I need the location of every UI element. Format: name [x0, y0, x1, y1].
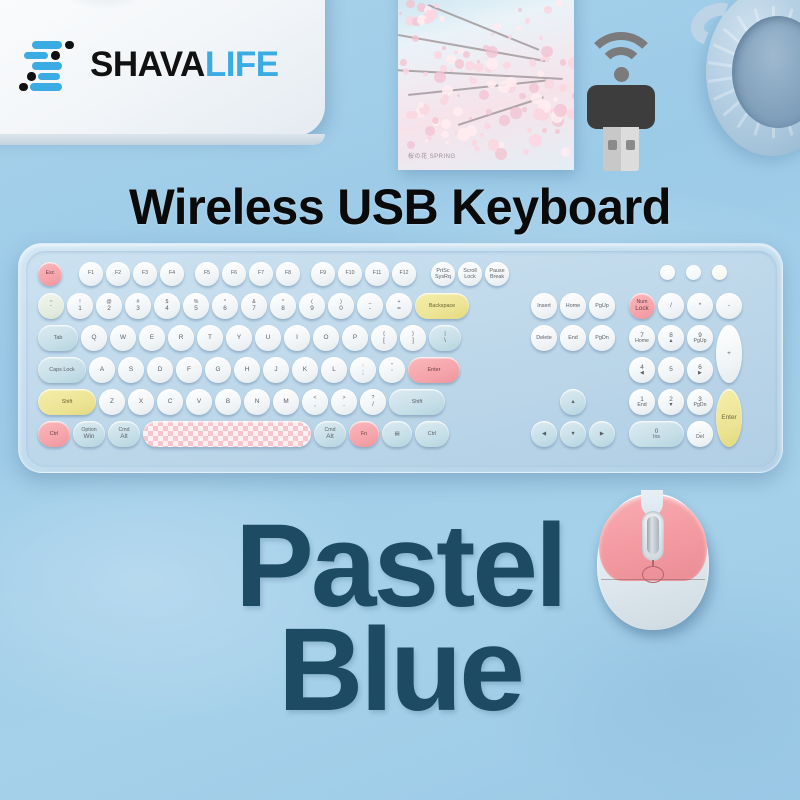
- poster-blossom: [544, 6, 551, 13]
- key-2[interactable]: @2: [96, 293, 122, 319]
- laptop-reflection: [60, 0, 150, 10]
- poster-blossom: [474, 146, 479, 151]
- arrow-up-key[interactable]: ▲: [560, 389, 586, 415]
- key-label: Home: [566, 303, 580, 309]
- poster-blossom: [465, 61, 475, 71]
- key-legend-top: F3: [142, 271, 148, 277]
- dongle-pin-left: [608, 140, 617, 150]
- key-legend-main: Z: [110, 398, 114, 405]
- numpad-3[interactable]: 3PgDn: [687, 389, 713, 415]
- poster-blossom: [544, 79, 554, 89]
- key-scroll-lock[interactable]: ScrollLock: [458, 262, 482, 286]
- key-legend-main: 6: [223, 305, 227, 312]
- poster-blossom: [434, 71, 446, 83]
- poster-blossom: [553, 97, 558, 102]
- key-caps-lock[interactable]: Caps Lock: [38, 357, 86, 383]
- numpad-[interactable]: .Del: [687, 421, 713, 447]
- key-legend-main: Alt: [326, 433, 333, 440]
- key-legend-main: U: [266, 334, 271, 341]
- key-legend-main: C: [168, 398, 173, 405]
- key-legend-main: Win: [83, 433, 94, 440]
- key-label: Shift: [412, 399, 423, 405]
- key-legend-top: F7: [258, 271, 264, 277]
- key-legend-top: F5: [204, 271, 210, 277]
- key-legend-main: ': [391, 369, 392, 376]
- key-enter[interactable]: Enter: [408, 357, 460, 383]
- key-j[interactable]: J: [263, 357, 289, 383]
- key-legend-main: P: [353, 334, 357, 341]
- poster-blossom: [519, 93, 526, 100]
- poster-blossom: [483, 45, 489, 51]
- key-legend-top: F12: [400, 271, 409, 277]
- key-legend-main: 5: [194, 305, 198, 312]
- poster-blossom: [442, 46, 446, 50]
- key-legend-main: /: [372, 401, 374, 408]
- key-e[interactable]: E: [139, 325, 165, 351]
- poster-blossom: [434, 51, 442, 59]
- keyboard-key-area: EscF1F2F3F4F5F6F7F8F9F10F11F12PrtScSysRq…: [26, 251, 777, 467]
- poster-caption: 桜の花 SPRING: [408, 153, 456, 162]
- key-label: PgDn: [595, 335, 609, 341]
- numpad-enter[interactable]: Enter: [716, 389, 742, 447]
- color-callout: Pastel Blue: [0, 515, 800, 723]
- pastel-blue-wireless-keyboard[interactable]: EscF1F2F3F4F5F6F7F8F9F10F11F12PrtScSysRq…: [18, 243, 783, 473]
- key-p[interactable]: P: [342, 325, 368, 351]
- key-label: Caps Lock: [49, 367, 74, 373]
- key-legend-main: Y: [237, 334, 241, 341]
- key-label: PgUp: [595, 303, 609, 309]
- key-legend-sub: Home: [635, 339, 649, 345]
- key-0[interactable]: )0: [328, 293, 354, 319]
- key-label: Enter: [428, 367, 441, 373]
- poster-blossom: [561, 147, 571, 157]
- arrow-left-key[interactable]: ◀: [531, 421, 557, 447]
- key-fn[interactable]: Fn: [349, 421, 379, 447]
- key-legend-top: Esc: [46, 271, 55, 277]
- key-label: Backspace: [429, 303, 455, 309]
- poster-blossom: [445, 141, 449, 145]
- key-legend-main: T: [208, 334, 212, 341]
- poster-blossom: [406, 111, 414, 119]
- poster-blossom: [555, 129, 560, 134]
- key-label: ▲: [570, 399, 575, 405]
- key-legend-main: J: [274, 366, 277, 373]
- poster-blossom: [446, 55, 456, 65]
- key-legend-main: =: [397, 305, 401, 312]
- key-legend-main: 9: [310, 305, 314, 312]
- poster-blossom: [458, 48, 464, 54]
- numpad-6[interactable]: 6▶: [687, 357, 713, 383]
- key-r[interactable]: R: [168, 325, 194, 351]
- key-f12[interactable]: F12: [392, 262, 416, 286]
- key-f4[interactable]: F4: [160, 262, 184, 286]
- poster-blossom: [529, 134, 542, 147]
- key-legend-main: Lock: [635, 305, 649, 312]
- key-legend-main: N: [255, 398, 260, 405]
- key-legend-main: X: [139, 398, 143, 405]
- key-s[interactable]: S: [118, 357, 144, 383]
- poster-blossom: [554, 104, 567, 117]
- poster-blossom: [491, 33, 494, 36]
- indicator-led-1: [660, 265, 675, 280]
- key-k[interactable]: K: [292, 357, 318, 383]
- key-f6[interactable]: F6: [222, 262, 246, 286]
- logo-bar-2: [24, 52, 48, 60]
- poster-blossom: [559, 84, 568, 93]
- poster-branch: [398, 34, 546, 62]
- key-legend-sub: ▶: [698, 371, 702, 377]
- key-legend-main: 7: [252, 305, 256, 312]
- key-[interactable]: ?/: [360, 389, 386, 415]
- numpad-[interactable]: -: [716, 293, 742, 319]
- key-[interactable]: <,: [302, 389, 328, 415]
- key-legend-main: [: [383, 337, 385, 344]
- key-esc[interactable]: Esc: [38, 262, 62, 286]
- key-end[interactable]: End: [560, 325, 586, 351]
- poster-blossom: [503, 62, 510, 69]
- key-legend-main: K: [303, 366, 307, 373]
- poster-blossom: [453, 107, 463, 117]
- poster-blossom: [486, 58, 499, 71]
- numpad-5[interactable]: 5: [658, 357, 684, 383]
- key-legend-main: G: [216, 366, 221, 373]
- key-legend-main: Enter: [721, 414, 736, 421]
- key-legend-main: Alt: [120, 433, 127, 440]
- key-f[interactable]: F: [176, 357, 202, 383]
- key-legend-sub: PgUp: [694, 339, 707, 345]
- poster-blossom: [499, 115, 510, 126]
- key-label: ◀: [542, 431, 546, 437]
- key-4[interactable]: $4: [154, 293, 180, 319]
- key-legend-main: 5: [669, 366, 673, 373]
- poster-blossom: [457, 94, 460, 97]
- key-legend-main: ]: [412, 337, 414, 344]
- poster-blossom: [423, 72, 427, 76]
- key-[interactable]: :;: [350, 357, 376, 383]
- key-legend-sub: ▼: [668, 403, 673, 409]
- poster-blossom: [441, 131, 448, 138]
- logo-bar-1: [32, 41, 62, 49]
- key-1[interactable]: !1: [67, 293, 93, 319]
- key-[interactable]: ~`: [38, 293, 64, 319]
- key-legend-main: Q: [92, 334, 97, 341]
- key-legend-main: O: [324, 334, 329, 341]
- key-9[interactable]: (9: [299, 293, 325, 319]
- key-legend-top: F11: [373, 271, 382, 277]
- key-label: ▤: [394, 431, 399, 437]
- key-[interactable]: _-: [357, 293, 383, 319]
- key-legend-main: 4: [165, 305, 169, 312]
- key-o[interactable]: O: [313, 325, 339, 351]
- key-legend-sub: ▲: [668, 339, 673, 345]
- key-f2[interactable]: F2: [106, 262, 130, 286]
- key-[interactable]: {[: [371, 325, 397, 351]
- logo-bar-5: [30, 83, 62, 91]
- key-legend-main: D: [158, 366, 163, 373]
- key-v[interactable]: V: [186, 389, 212, 415]
- key-legend-top: F8: [285, 271, 291, 277]
- key-h[interactable]: H: [234, 357, 260, 383]
- numpad-2[interactable]: 2▼: [658, 389, 684, 415]
- key-legend-main: R: [179, 334, 184, 341]
- indicator-led-2: [686, 265, 701, 280]
- key-legend-main: +: [727, 350, 731, 357]
- key-[interactable]: ▤: [382, 421, 412, 447]
- sakura-poster: 桜の花 SPRING: [398, 0, 574, 170]
- key-[interactable]: >.: [331, 389, 357, 415]
- key-legend-main: 8: [281, 305, 285, 312]
- key-f7[interactable]: F7: [249, 262, 273, 286]
- key-legend-main: `: [50, 305, 52, 312]
- poster-blossom: [537, 71, 543, 77]
- poster-blossom: [479, 90, 489, 100]
- brand-logo: SHAVALIFE: [18, 35, 279, 93]
- poster-blossom: [516, 26, 521, 31]
- key-5[interactable]: %5: [183, 293, 209, 319]
- numpad-7[interactable]: 7Home: [629, 325, 655, 351]
- poster-blossom: [527, 128, 532, 133]
- poster-blossom: [466, 125, 478, 137]
- key-u[interactable]: U: [255, 325, 281, 351]
- key-cmdalt[interactable]: CmdAlt: [314, 421, 346, 447]
- key-6[interactable]: ^6: [212, 293, 238, 319]
- key-label: Fn: [361, 431, 367, 437]
- logo-dot-2: [51, 51, 60, 60]
- key-legend-sub: End: [637, 403, 646, 409]
- key-label: Lock: [464, 274, 475, 280]
- logo-dot-1: [65, 41, 74, 50]
- key-delete[interactable]: Delete: [531, 325, 557, 351]
- key-legend-main: I: [296, 334, 298, 341]
- poster-blossom: [522, 107, 527, 112]
- key-legend-top: F9: [320, 271, 326, 277]
- poster-blossom: [493, 23, 501, 31]
- poster-blossom: [487, 80, 496, 89]
- poster-blossom: [426, 10, 431, 15]
- key-legend-sub: Ins: [653, 435, 660, 441]
- indicator-led-3: [712, 265, 727, 280]
- key-g[interactable]: G: [205, 357, 231, 383]
- poster-blossom: [480, 133, 485, 138]
- arrow-right-key[interactable]: ▶: [589, 421, 615, 447]
- key-legend-main: ;: [362, 369, 364, 376]
- key-legend-sub: Del: [696, 435, 704, 441]
- key-legend-sub: PgDn: [694, 403, 707, 409]
- key-n[interactable]: N: [244, 389, 270, 415]
- key-legend-top: F4: [169, 271, 175, 277]
- key-label: Tab: [54, 335, 63, 341]
- numpad-0[interactable]: 0Ins: [629, 421, 684, 447]
- color-callout-line2: Blue: [0, 619, 800, 723]
- poster-blossom: [455, 59, 464, 68]
- key-legend-main: -: [369, 305, 371, 312]
- key-label: End: [568, 335, 578, 341]
- key-insert[interactable]: Insert: [531, 293, 557, 319]
- key-w[interactable]: W: [110, 325, 136, 351]
- brand-name-secondary: LIFE: [205, 45, 279, 84]
- key-t[interactable]: T: [197, 325, 223, 351]
- key-shift[interactable]: Shift: [389, 389, 445, 415]
- brand-name-primary: SHAVA: [90, 45, 205, 84]
- logo-bar-4: [38, 73, 60, 81]
- ribbed-mug: [706, 0, 800, 156]
- key-z[interactable]: Z: [99, 389, 125, 415]
- key-3[interactable]: #3: [125, 293, 151, 319]
- poster-blossom: [440, 65, 447, 72]
- brand-logo-text: SHAVALIFE: [90, 47, 279, 82]
- key-d[interactable]: D: [147, 357, 173, 383]
- key-cmdalt[interactable]: CmdAlt: [108, 421, 140, 447]
- key-[interactable]: |\: [429, 325, 461, 351]
- poster-blossom: [525, 18, 530, 23]
- key-legend-main: S: [129, 366, 133, 373]
- poster-blossom: [540, 57, 544, 61]
- key-pgdn[interactable]: PgDn: [589, 325, 615, 351]
- key-legend-main: ,: [314, 401, 316, 408]
- poster-blossom: [454, 51, 457, 54]
- key-8[interactable]: *8: [270, 293, 296, 319]
- key-legend-main: A: [100, 366, 104, 373]
- key-label: Insert: [537, 303, 550, 309]
- key-l[interactable]: L: [321, 357, 347, 383]
- numpad-9[interactable]: 9PgUp: [687, 325, 713, 351]
- key-c[interactable]: C: [157, 389, 183, 415]
- key-pause-break[interactable]: PauseBreak: [485, 262, 509, 286]
- key-space[interactable]: [143, 421, 311, 447]
- key-legend-sub: ◀: [640, 371, 644, 377]
- poster-branch: [408, 79, 547, 95]
- numpad-8[interactable]: 8▲: [658, 325, 684, 351]
- key-legend-main: -: [728, 302, 730, 309]
- key-legend-main: 1: [78, 305, 82, 312]
- poster-blossom: [542, 128, 547, 133]
- key-[interactable]: }]: [400, 325, 426, 351]
- poster-blossom: [400, 59, 407, 66]
- key-i[interactable]: I: [284, 325, 310, 351]
- key-legend-main: B: [226, 398, 230, 405]
- poster-blossom: [530, 60, 536, 66]
- key-legend-main: /: [670, 302, 672, 309]
- key-[interactable]: +=: [386, 293, 412, 319]
- poster-blossom: [425, 139, 428, 142]
- poster-blossom: [518, 8, 522, 12]
- arrow-down-key[interactable]: ▼: [560, 421, 586, 447]
- key-legend-main: M: [283, 398, 288, 405]
- numpad-[interactable]: *: [687, 293, 713, 319]
- numpad-[interactable]: /: [658, 293, 684, 319]
- key-[interactable]: "': [379, 357, 405, 383]
- poster-blossom: [541, 46, 552, 57]
- speed-lines-icon: [18, 35, 76, 93]
- logo-dot-5: [19, 83, 28, 92]
- poster-blossom: [412, 35, 419, 42]
- numpad-num-lock[interactable]: NumLock: [629, 293, 655, 319]
- poster-blossom: [427, 136, 431, 140]
- key-legend-main: F: [187, 366, 191, 373]
- key-label: Shift: [62, 399, 73, 405]
- poster-blossom: [425, 126, 435, 136]
- key-shift[interactable]: Shift: [38, 389, 96, 415]
- poster-blossom: [399, 12, 403, 16]
- poster-blossom: [441, 119, 451, 129]
- key-f8[interactable]: F8: [276, 262, 300, 286]
- key-legend-main: L: [332, 366, 336, 373]
- poster-blossom: [418, 102, 424, 108]
- poster-blossom: [510, 107, 521, 118]
- key-ctrl[interactable]: Ctrl: [415, 421, 449, 447]
- page-title: Wireless USB Keyboard: [12, 178, 788, 236]
- poster-blossom: [407, 141, 416, 150]
- logo-bar-3: [32, 62, 62, 70]
- poster-blossom: [556, 0, 563, 7]
- key-7[interactable]: &7: [241, 293, 267, 319]
- key-legend-main: 2: [107, 305, 111, 312]
- key-f1[interactable]: F1: [79, 262, 103, 286]
- key-label: Break: [490, 274, 504, 280]
- key-a[interactable]: A: [89, 357, 115, 383]
- key-m[interactable]: M: [273, 389, 299, 415]
- key-legend-main: E: [150, 334, 154, 341]
- key-label: SysRq: [435, 274, 451, 280]
- key-legend-main: H: [245, 366, 250, 373]
- key-optionwin[interactable]: OptionWin: [73, 421, 105, 447]
- key-legend-main: *: [699, 302, 702, 309]
- key-legend-main: V: [197, 398, 201, 405]
- key-legend-top: F6: [231, 271, 237, 277]
- key-label: Delete: [536, 335, 552, 341]
- poster-blossom: [442, 94, 449, 101]
- key-tab[interactable]: Tab: [38, 325, 78, 351]
- key-legend-top: F2: [115, 271, 121, 277]
- key-y[interactable]: Y: [226, 325, 252, 351]
- key-f10[interactable]: F10: [338, 262, 362, 286]
- key-q[interactable]: Q: [81, 325, 107, 351]
- key-pgup[interactable]: PgUp: [589, 293, 615, 319]
- numpad-[interactable]: +: [716, 325, 742, 383]
- poster-blossom: [406, 0, 414, 8]
- key-ctrl[interactable]: Ctrl: [38, 421, 70, 447]
- dongle-body: [587, 85, 655, 129]
- key-prtsc-sysrq[interactable]: PrtScSysRq: [431, 262, 455, 286]
- key-legend-main: \: [444, 337, 446, 344]
- poster-blossom: [439, 16, 445, 22]
- key-f9[interactable]: F9: [311, 262, 335, 286]
- key-f11[interactable]: F11: [365, 262, 389, 286]
- numpad-4[interactable]: 4◀: [629, 357, 655, 383]
- key-backspace[interactable]: Backspace: [415, 293, 469, 319]
- numpad-1[interactable]: 1End: [629, 389, 655, 415]
- key-label: Ctrl: [50, 431, 58, 437]
- poster-blossom: [434, 3, 439, 8]
- poster-blossom: [403, 68, 410, 75]
- poster-blossom: [560, 59, 566, 65]
- key-label: ▶: [600, 431, 604, 437]
- key-f3[interactable]: F3: [133, 262, 157, 286]
- key-b[interactable]: B: [215, 389, 241, 415]
- usb-wireless-dongle-icon: [573, 28, 669, 173]
- key-home[interactable]: Home: [560, 293, 586, 319]
- poster-blossom: [539, 36, 543, 40]
- key-x[interactable]: X: [128, 389, 154, 415]
- key-f5[interactable]: F5: [195, 262, 219, 286]
- poster-blossom: [424, 18, 430, 24]
- poster-blossom: [523, 149, 529, 155]
- poster-blossom: [474, 63, 483, 72]
- key-legend-main: 0: [339, 305, 343, 312]
- key-legend-main: 3: [136, 305, 140, 312]
- logo-dot-4: [27, 72, 36, 81]
- key-legend-main: .: [343, 401, 345, 408]
